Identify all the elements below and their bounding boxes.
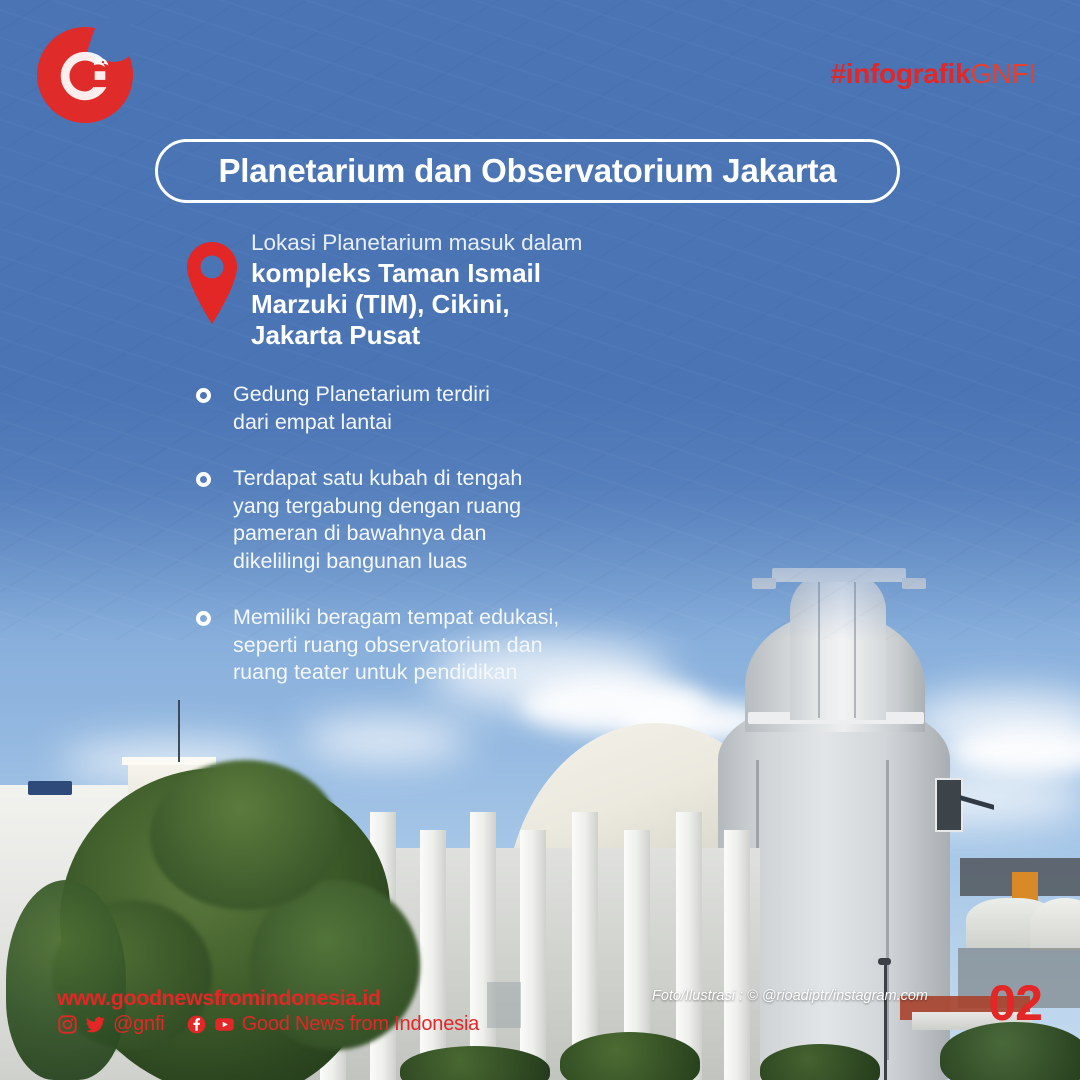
list-item: Terdapat satu kubah di tengah yang terga… [196,465,626,575]
page-name: Good News from Indonesia [242,1013,480,1036]
content-layer: #infografikGNFI Planetarium dan Observat… [0,0,1080,1080]
fact-line: dikelilingi bangunan luas [233,548,626,576]
location-line: kompleks Taman Ismail [251,258,651,289]
fact-line: Terdapat satu kubah di tengah [233,465,626,493]
page-number: 02 [988,974,1042,1032]
footer: www.goodnewsfromindonesia.id @gnfi [57,986,527,1036]
photo-credit: Foto/Ilustrasi : © @rioadiptr/instagram.… [652,988,928,1004]
bullet-ring-icon [196,611,211,626]
bullet-ring-icon [196,388,211,403]
fact-line: seperti ruang observatorium dan [233,632,626,660]
facts-list: Gedung Planetarium terdiri dari empat la… [196,381,626,687]
location-intro: Lokasi Planetarium masuk dalam [251,228,651,257]
fact-text: Gedung Planetarium terdiri dari empat la… [233,381,626,436]
social-handle: @gnfi [113,1013,165,1036]
hashtag-bold: #infografik [830,58,970,89]
fact-text: Terdapat satu kubah di tengah yang terga… [233,465,626,575]
instagram-icon[interactable] [57,1014,78,1035]
list-item: Gedung Planetarium terdiri dari empat la… [196,381,626,436]
list-item: Memiliki beragam tempat edukasi, seperti… [196,604,626,687]
fact-line: yang tergabung dengan ruang [233,493,626,521]
fact-line: pameran di bawahnya dan [233,520,626,548]
hashtag-light: GNFI [970,58,1036,89]
page-title: Planetarium dan Observatorium Jakarta [218,152,836,190]
location-line: Marzuki (TIM), Cikini, [251,289,651,320]
fact-text: Memiliki beragam tempat edukasi, seperti… [233,604,626,687]
hashtag: #infografikGNFI [830,58,1036,90]
gnfi-garuda-logo-icon [54,46,116,108]
website-url[interactable]: www.goodnewsfromindonesia.id [57,986,527,1010]
fact-line: ruang teater untuk pendidikan [233,659,626,687]
gnfi-logo[interactable] [37,27,133,123]
location-line: Jakarta Pusat [251,320,651,351]
map-pin-icon [183,240,241,326]
fact-line: dari empat lantai [233,409,626,437]
twitter-icon[interactable] [85,1014,106,1035]
fact-line: Memiliki beragam tempat edukasi, [233,604,626,632]
bullet-ring-icon [196,472,211,487]
fact-line: Gedung Planetarium terdiri [233,381,626,409]
location-text: Lokasi Planetarium masuk dalam kompleks … [251,228,651,351]
title-pill: Planetarium dan Observatorium Jakarta [155,139,900,203]
social-handles: @gnfi Good News from Indonesia [57,1013,527,1036]
youtube-icon[interactable] [214,1014,235,1035]
infographic-poster: #infografikGNFI Planetarium dan Observat… [0,0,1080,1080]
facebook-icon[interactable] [186,1014,207,1035]
